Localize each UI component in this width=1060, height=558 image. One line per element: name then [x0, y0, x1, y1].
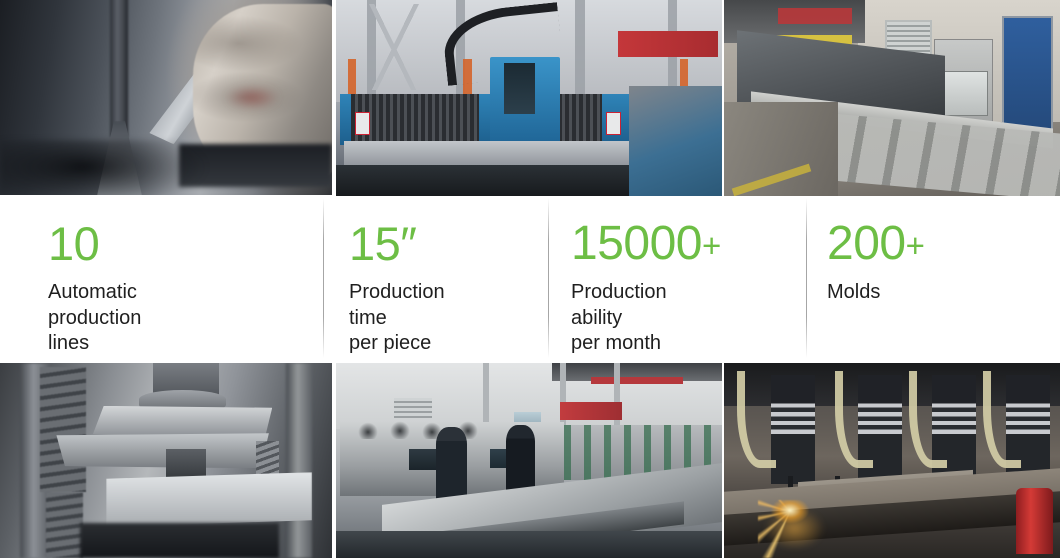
stat-label: Production time per piece — [349, 280, 445, 357]
guide-post-shape — [286, 363, 313, 558]
machine-shaft-shape — [110, 0, 128, 137]
photo-die-mold-closeup — [0, 363, 332, 558]
stat-divider — [806, 198, 807, 358]
stat-plus-suffix: + — [702, 227, 721, 264]
coolant-hose-shape — [737, 371, 775, 469]
photo-workers-at-machine — [336, 363, 722, 558]
warning-sign-shape — [355, 112, 370, 136]
machine-panel-shape — [504, 63, 535, 114]
red-crane-rail-shape — [591, 377, 684, 385]
roof-truss-shape — [348, 4, 441, 90]
foreground-shadow — [0, 140, 206, 195]
stats-band: 10 Automatic production lines 15″ Produc… — [0, 196, 1060, 363]
photo-production-line-image — [724, 0, 1060, 196]
roof-column-shape — [575, 0, 584, 102]
red-banner-shape — [618, 31, 718, 56]
stat-number: 10 — [48, 220, 99, 267]
bellows-cover-shape — [351, 94, 478, 143]
worker-silhouette — [436, 427, 467, 505]
photo-production-line — [724, 0, 1060, 196]
middle-die-plate-shape — [56, 433, 268, 468]
conveyor-shape — [336, 165, 645, 196]
factory-capability-banner: 10 Automatic production lines 15″ Produc… — [0, 0, 1060, 558]
factory-floor-shape — [724, 102, 838, 196]
support-column-shape — [614, 363, 620, 433]
adjacent-machine-shape — [629, 86, 722, 196]
stat-label: Molds — [827, 280, 880, 306]
weld-sparks — [758, 500, 839, 558]
red-banner-shape — [560, 402, 622, 420]
coolant-hose-shape — [909, 371, 947, 469]
upper-die-plate-shape — [93, 406, 272, 437]
photo-spot-welding — [724, 363, 1060, 558]
background-red-blur — [226, 86, 279, 109]
red-banner-shape — [778, 8, 852, 24]
photo-gloved-hand — [0, 0, 332, 195]
factory-floor-shape — [336, 531, 722, 558]
stat-label: Automatic production lines — [48, 280, 141, 357]
shadow-shape — [80, 523, 279, 558]
warning-sign-shape — [606, 112, 621, 136]
photo-die-mold-closeup-image — [0, 363, 332, 558]
photo-row-bottom — [0, 363, 1060, 558]
lower-die-plate-shape — [106, 472, 312, 527]
photo-workers-at-machine-image — [336, 363, 722, 558]
stat-plus-suffix: + — [906, 227, 925, 264]
stat-divider — [323, 198, 324, 358]
welding-gun-shape — [771, 375, 815, 484]
blue-door-shape — [1002, 16, 1053, 138]
stat-number: 200+ — [827, 220, 924, 268]
stat-divider — [548, 198, 549, 358]
photo-cnc-laser-cutter — [336, 0, 722, 196]
photo-spot-welding-image — [724, 363, 1060, 558]
photo-cnc-laser-cutter-image — [336, 0, 722, 196]
photo-gloved-hand-image — [0, 0, 332, 195]
photo-row-top — [0, 0, 1060, 196]
coolant-hose-shape — [835, 371, 873, 469]
threaded-column-shape — [40, 367, 86, 492]
control-panel-shape — [409, 449, 436, 470]
stat-label: Production ability per month — [571, 280, 667, 357]
stat-number: 15″ — [349, 220, 416, 267]
cabinet-glass-door-shape — [939, 71, 988, 116]
red-equipment-shape — [1016, 488, 1053, 554]
coolant-hose-shape — [983, 371, 1021, 469]
stat-number: 15000+ — [571, 220, 721, 268]
threaded-column-shape — [46, 492, 83, 558]
